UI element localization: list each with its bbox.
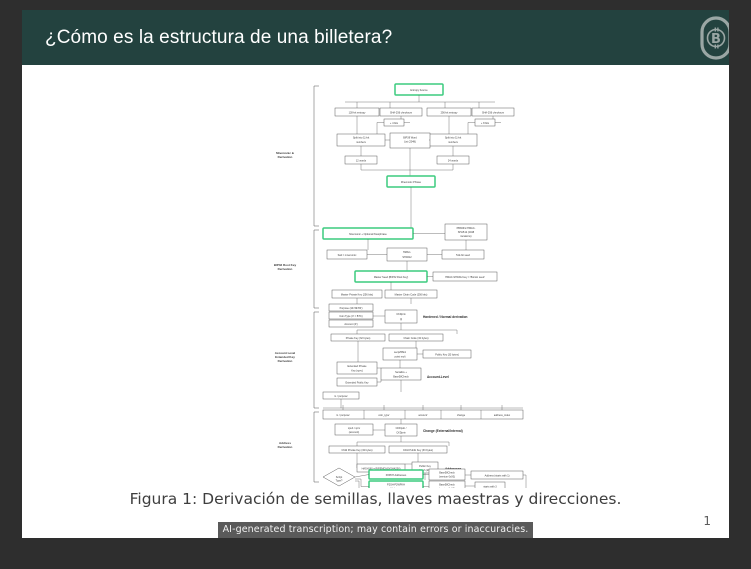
node-checksum-1: SHA-256 checksum	[380, 108, 422, 116]
svg-text:24 words: 24 words	[448, 159, 459, 162]
node-bip39-wordlist: BIP39 Word List (2048)	[390, 133, 430, 148]
node-base58check-05: Base58Check (version 0x05)	[429, 481, 465, 488]
svg-text:Private Key (32 bytes): Private Key (32 bytes)	[346, 337, 371, 340]
svg-text:P2PKH Addresses: P2PKH Addresses	[386, 474, 407, 477]
svg-text:Child Private Key (32 bytes): Child Private Key (32 bytes)	[342, 449, 373, 452]
svg-text:m / purpose': m / purpose'	[334, 395, 348, 398]
node-script-type-decision: Script Type?	[323, 468, 355, 486]
page-number: 1	[703, 514, 711, 528]
svg-text:coin_type': coin_type'	[378, 414, 390, 417]
node-xpub: Extended Public Key	[337, 378, 377, 386]
node-secp256k1: secp256k1 point mult	[383, 348, 417, 360]
node-p2pkh-addresses: P2PKH Addresses	[369, 470, 423, 479]
section-label-bip32root: BIP32 Root Key Derivation	[274, 263, 297, 271]
node-xpub-source: xpub / xprv (account)	[335, 424, 373, 435]
svg-text:Split into 11-bit: Split into 11-bit	[353, 137, 370, 140]
node-hmac-bitcoin-seed: HMAC-SHA512 key = 'Bitcoin seed'	[433, 272, 497, 281]
svg-text:SHA-256 checksum: SHA-256 checksum	[390, 111, 412, 114]
svg-text:Base58Check: Base58Check	[393, 376, 409, 379]
ai-transcription-banner-text: AI-generated transcription; may contain …	[218, 522, 534, 538]
svg-text:numbers: numbers	[448, 141, 458, 144]
node-account-index: Account (0')	[329, 320, 373, 327]
svg-text:(account): (account)	[349, 431, 360, 434]
svg-text:secp256k1: secp256k1	[394, 351, 407, 354]
svg-text:Master Seed (BIP32 Root Key): Master Seed (BIP32 Root Key)	[374, 276, 408, 279]
brand-logo: B P F	[698, 10, 729, 65]
svg-text:Base58Check: Base58Check	[439, 484, 455, 487]
node-entropy-256: 256-bit entropy	[427, 108, 471, 116]
node-entropy-source: Entropy Source	[395, 84, 443, 95]
node-xprv: Extended Private Key (xprv)	[337, 362, 377, 374]
svg-text:Type?: Type?	[336, 480, 343, 483]
svg-text:CKDpriv: CKDpriv	[396, 432, 406, 435]
svg-text:Derivation: Derivation	[278, 359, 293, 363]
section-label-mnemonic: Mnemonic & Derivation	[276, 151, 295, 159]
node-purpose: Purpose (44'/49'/84')	[329, 304, 373, 311]
svg-text:m / purpose': m / purpose'	[336, 414, 350, 417]
node-split-11bit-1: Split into 11-bit numbers	[337, 134, 385, 146]
figure-caption: Figura 1: Derivación de semillas, llaves…	[22, 490, 729, 508]
svg-text:starts with 3: starts with 3	[483, 486, 497, 489]
svg-text:point mult: point mult	[395, 356, 406, 359]
node-address-starts-1: Address (starts with 1)	[471, 471, 523, 479]
svg-text:Key (xprv): Key (xprv)	[351, 370, 363, 373]
svg-text:12 words: 12 words	[356, 159, 367, 162]
svg-text:PBKDF2-HMAC-: PBKDF2-HMAC-	[457, 227, 476, 230]
svg-text:Public Key: Public Key	[419, 465, 432, 468]
svg-text:256-bit entropy: 256-bit entropy	[441, 111, 458, 114]
label-change-external-internal: Change (External/Internal)	[423, 429, 463, 433]
svg-text:Coin Type (0' = BTC): Coin Type (0' = BTC)	[339, 315, 362, 318]
svg-text:(version 0x00): (version 0x00)	[439, 476, 455, 479]
svg-text:(i): (i)	[400, 318, 402, 321]
svg-text:+ 8 bits: + 8 bits	[481, 122, 490, 125]
node-cointype: Coin Type (0' = BTC)	[329, 312, 373, 319]
node-24-words: 24 words	[437, 156, 469, 164]
slide-header: ¿Cómo es la estructura de una billetera?…	[22, 10, 729, 65]
svg-text:SHA512 (2048: SHA512 (2048	[458, 231, 475, 234]
bitcoin-b-logo-icon: B	[698, 15, 729, 61]
section-brackets	[314, 86, 319, 482]
svg-text:HMAC-SHA512 key = 'Bitcoin see: HMAC-SHA512 key = 'Bitcoin seed'	[445, 276, 485, 279]
svg-text:Mnemonic Phrase: Mnemonic Phrase	[401, 181, 422, 184]
svg-text:Derivation: Derivation	[278, 445, 293, 449]
svg-text:512-bit seed: 512-bit seed	[456, 254, 470, 257]
svg-text:xpub / xprv: xpub / xprv	[348, 427, 361, 430]
node-mnemonic-passphrase: Mnemonic + Optional Passphrase	[323, 228, 413, 239]
svg-text:Serialize +: Serialize +	[395, 371, 407, 374]
svg-text:Child Public Key (33 bytes): Child Public Key (33 bytes)	[403, 449, 433, 452]
svg-text:(version 0x05): (version 0x05)	[439, 488, 455, 489]
svg-text:Derivation: Derivation	[278, 267, 293, 271]
node-12-words: 12 words	[345, 156, 377, 164]
node-address-starts-3: starts with 3	[475, 482, 505, 488]
svg-text:Base58Check: Base58Check	[439, 472, 455, 475]
svg-text:P2SH-P2WPKH: P2SH-P2WPKH	[387, 484, 405, 487]
node-master-chain-code: Master Chain Code (256 bits)	[385, 290, 437, 298]
label-hardened-normal: Hardened / Normal derivation	[423, 315, 468, 319]
svg-text:Mnemonic + Optional Passphrase: Mnemonic + Optional Passphrase	[349, 233, 387, 236]
section-label-address: Address Derivation	[278, 441, 293, 449]
svg-text:Extended Public Key: Extended Public Key	[345, 382, 369, 385]
node-salt-mnemonic: Salt = mnemonic	[327, 250, 367, 259]
wallet-structure-diagram: Mnemonic & Derivation BIP32 Root Key Der…	[227, 78, 527, 488]
node-private-key-32: Private Key (32 bytes)	[331, 334, 385, 341]
node-checksum-2: SHA-256 checksum	[472, 108, 514, 116]
node-p2sh-p2wpkh-addresses: P2SH-P2WPKH Addresses	[369, 481, 423, 488]
svg-text:SHA512: SHA512	[402, 256, 412, 259]
svg-text:Master Private Key (256 bits): Master Private Key (256 bits)	[341, 294, 373, 297]
svg-text:Chain Code (32 bytes): Chain Code (32 bytes)	[403, 337, 428, 340]
svg-text:Master Chain Code (256 bits): Master Chain Code (256 bits)	[395, 294, 428, 297]
node-plus-8bits: + 8 bits	[475, 119, 495, 126]
label-account-extended-key: Account-Level	[427, 375, 449, 379]
node-base58check-00: Base58Check (version 0x00)	[429, 469, 465, 480]
svg-text:numbers: numbers	[356, 141, 366, 144]
svg-text:Address (starts with 1): Address (starts with 1)	[485, 475, 510, 478]
svg-text:+ 4 bits: + 4 bits	[390, 122, 399, 125]
node-serialize-base58: Serialize + Base58Check	[381, 368, 421, 380]
node-public-key-33: Public Key (33 bytes)	[423, 350, 471, 358]
node-master-seed: Master Seed (BIP32 Root Key)	[355, 271, 427, 282]
svg-text:Account (0'): Account (0')	[344, 323, 357, 326]
node-child-private-key: Child Private Key (32 bytes)	[329, 446, 385, 453]
node-512-bit-seed: 512-bit seed	[442, 250, 484, 259]
svg-text:change: change	[457, 414, 466, 417]
section-label-account: Account Level Extended Key Derivation	[275, 351, 296, 363]
node-master-private-key: Master Private Key (256 bits)	[332, 290, 382, 298]
node-plus-4bits: + 4 bits	[384, 119, 404, 126]
slide-body: Mnemonic & Derivation BIP32 Root Key Der…	[22, 65, 729, 538]
node-split-11bit-2: Split into 11-bit numbers	[429, 134, 477, 146]
svg-text:Salt = mnemonic: Salt = mnemonic	[338, 254, 357, 257]
node-ckdpub-ckdpriv: CKDpub / CKDpriv	[385, 424, 417, 436]
node-path-segments: m / purpose' coin_type' account' change …	[323, 410, 523, 419]
svg-text:Purpose (44'/49'/84'): Purpose (44'/49'/84')	[340, 307, 363, 310]
node-hmac-sha512: HMAC- SHA512	[387, 248, 427, 261]
svg-text:account': account'	[418, 414, 428, 417]
svg-text:Split into 11-bit: Split into 11-bit	[445, 137, 462, 140]
node-ckdpriv: CKDpriv (i)	[385, 310, 417, 323]
node-child-public-key: Child Public Key (33 bytes)	[389, 446, 447, 453]
ai-transcription-banner: AI-generated transcription; may contain …	[22, 519, 729, 538]
svg-text:HMAC-: HMAC-	[403, 251, 411, 254]
svg-text:128-bit entropy: 128-bit entropy	[349, 111, 366, 114]
svg-text:Public Key (33 bytes): Public Key (33 bytes)	[435, 354, 459, 357]
svg-text:Extended Private: Extended Private	[347, 365, 367, 368]
diagram-svg: Mnemonic & Derivation BIP32 Root Key Der…	[227, 78, 527, 488]
window-root: ¿Cómo es la estructura de una billetera?…	[0, 0, 751, 569]
svg-text:BIP39 Word: BIP39 Word	[403, 137, 417, 140]
svg-text:CKDpub /: CKDpub /	[396, 427, 407, 430]
svg-text:SHA-256 checksum: SHA-256 checksum	[482, 111, 504, 114]
svg-text:iterations): iterations)	[461, 235, 472, 238]
svg-text:address_index: address_index	[494, 414, 511, 417]
svg-text:Derivation: Derivation	[278, 155, 293, 159]
node-entropy-128: 128-bit entropy	[335, 108, 379, 116]
node-chain-code-32: Chain Code (32 bytes)	[389, 334, 443, 341]
svg-text:Addresses: Addresses	[390, 488, 403, 489]
svg-text:List (2048): List (2048)	[404, 141, 416, 144]
svg-text:CKDpriv: CKDpriv	[396, 313, 406, 316]
page-title: ¿Cómo es la estructura de una billetera?	[22, 27, 392, 49]
slide: ¿Cómo es la estructura de una billetera?…	[22, 10, 729, 538]
node-pbkdf2: PBKDF2-HMAC- SHA512 (2048 iterations)	[445, 224, 487, 240]
svg-text:Entropy Source: Entropy Source	[410, 89, 428, 92]
node-mnemonic-phrase: Mnemonic Phrase	[387, 176, 435, 187]
node-derivation-path: m / purpose'	[323, 392, 359, 399]
